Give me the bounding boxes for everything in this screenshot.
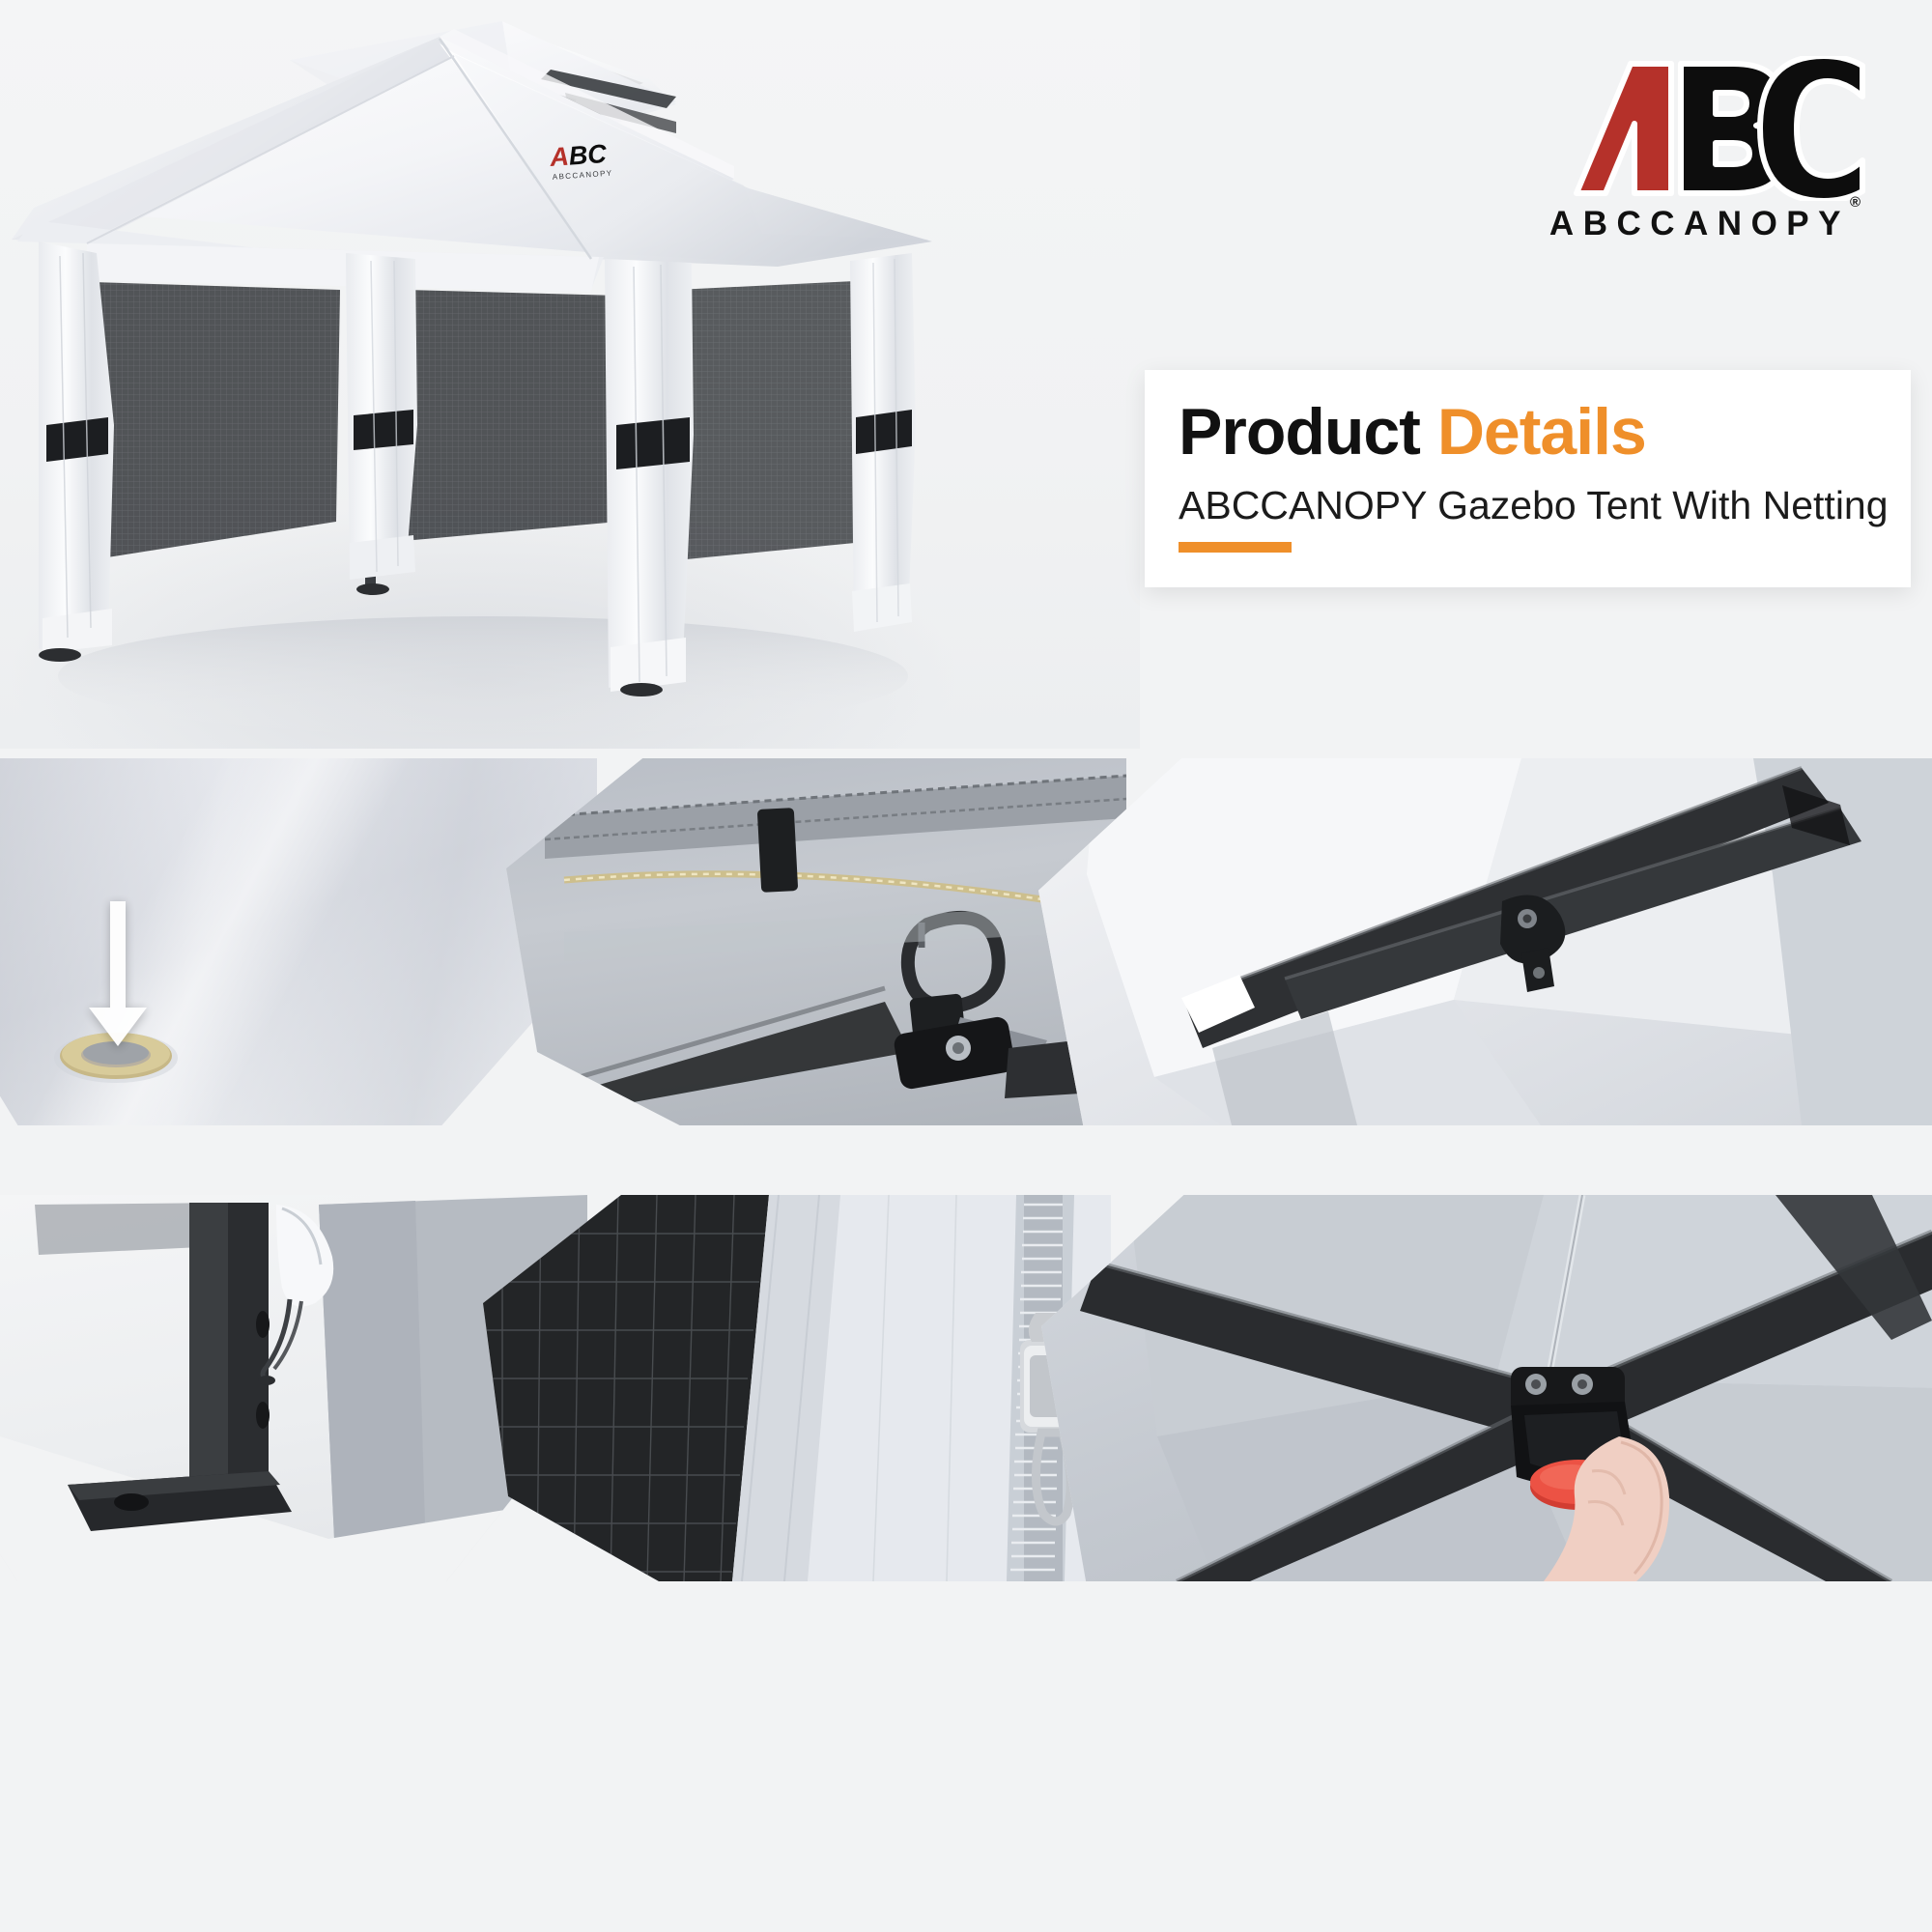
feature-grid: Prevent water accumulation	[0, 749, 1932, 1932]
brand-wordmark: ABCCANOPY®	[1549, 205, 1861, 243]
product-details-card: Product Details ABCCANOPY Gazebo Tent Wi…	[1145, 370, 1911, 587]
accent-underline	[1179, 542, 1292, 553]
feature-tile-central-lock: Central Lock	[1041, 1195, 1932, 1581]
registered-icon: ®	[1850, 194, 1861, 211]
product-details-title: Product Details	[1179, 399, 1646, 465]
wordmark-text: ABCCANOPY	[1549, 205, 1850, 242]
rings-detail	[506, 758, 1126, 1125]
product-details-subtitle: ABCCANOPY Gazebo Tent With Netting	[1179, 486, 1889, 526]
svg-text:ABC: ABC	[548, 139, 608, 172]
abc-logo-mark	[1526, 56, 1874, 201]
feature-tile-mesh-zipper: Mesh zipper	[483, 1195, 1111, 1581]
grommet-detail	[0, 758, 597, 1125]
central-lock-detail	[1041, 1195, 1932, 1581]
gazebo-illustration: ABC ABCCANOPY	[0, 0, 1140, 749]
title-word-details: Details	[1437, 395, 1646, 469]
hero-product-photo: ABC ABCCANOPY	[0, 0, 1140, 749]
feature-tile-awning: Expanded Awning	[1038, 758, 1932, 1125]
hero-section: ABC ABCCANOPY	[0, 0, 1932, 749]
feature-tile-grommet: Prevent water accumulation	[0, 758, 597, 1125]
brand-logo: ABCCANOPY®	[1497, 56, 1903, 264]
title-word-product: Product	[1179, 395, 1420, 469]
feature-tile-rings: Easy Assembled Rings	[506, 758, 1126, 1125]
mesh-zipper-detail	[483, 1195, 1111, 1581]
awning-detail	[1038, 758, 1932, 1125]
